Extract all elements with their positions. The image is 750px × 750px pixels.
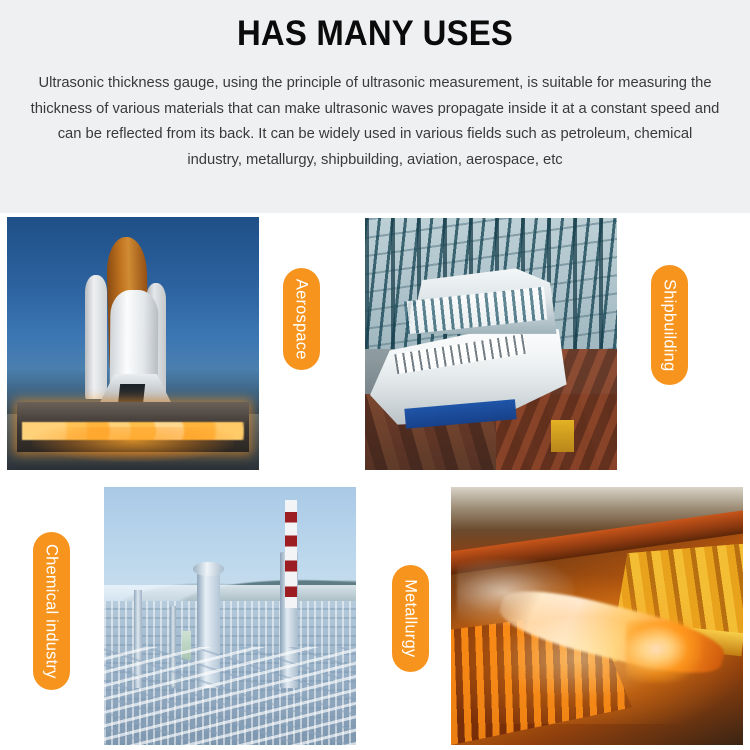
application-label-aerospace-text: Aerospace xyxy=(293,279,310,360)
page-description: Ultrasonic thickness gauge, using the pr… xyxy=(29,70,722,172)
application-label-shipbuilding[interactable]: Shipbuilding xyxy=(651,265,688,385)
pipe-racks xyxy=(104,647,356,745)
application-label-chemical-industry[interactable]: Chemical industry xyxy=(33,532,70,690)
application-label-aerospace[interactable]: Aerospace xyxy=(283,268,320,370)
solid-rocket-booster-left xyxy=(85,275,106,399)
steel-rolling-mill-photo xyxy=(451,487,743,745)
dockside-crane xyxy=(551,420,574,453)
furnace-glow xyxy=(451,575,743,725)
application-label-metallurgy[interactable]: Metallurgy xyxy=(392,565,429,672)
page-title: HAS MANY USES xyxy=(23,13,728,55)
petrochemical-refinery-photo xyxy=(104,487,356,745)
application-label-shipbuilding-text: Shipbuilding xyxy=(661,279,678,371)
product-feature-page: HAS MANY USES Ultrasonic thickness gauge… xyxy=(0,0,750,750)
application-label-metallurgy-text: Metallurgy xyxy=(402,579,419,657)
pad-light-glow xyxy=(32,427,234,462)
column-top-cap xyxy=(193,562,224,576)
space-shuttle-on-crawler-transporter-photo xyxy=(7,217,259,470)
application-label-chemical-industry-text: Chemical industry xyxy=(43,544,60,679)
red-white-striped-flare-stack xyxy=(285,500,297,608)
cruise-ship-in-dry-dock-photo xyxy=(365,218,617,470)
